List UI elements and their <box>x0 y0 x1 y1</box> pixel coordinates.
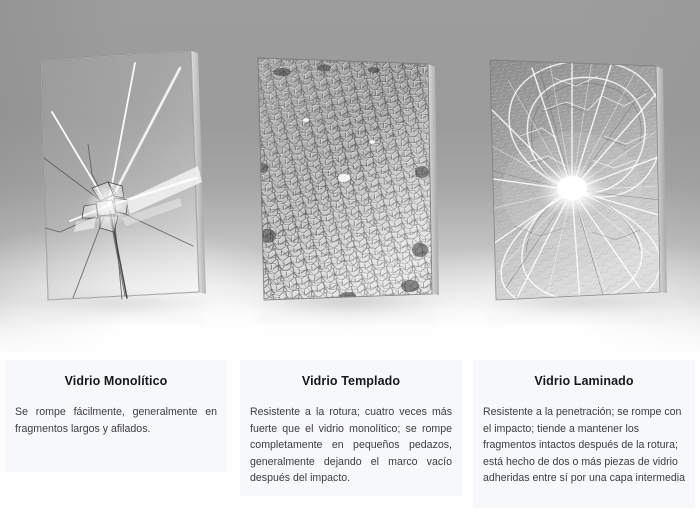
broken-laminated-glass-pane <box>484 50 670 305</box>
caption-card-templado: Vidrio Templado Resistente a la rotura; … <box>240 360 462 496</box>
caption-card-laminado: Vidrio Laminado Resistente a la penetrac… <box>473 360 695 508</box>
comparison-figure: Vidrio Monolítico Se rompe fácilmente, g… <box>0 0 700 520</box>
caption-title-monolitico: Vidrio Monolítico <box>5 374 227 388</box>
caption-body-monolitico: Se rompe fácilmente, generalmente en fra… <box>15 404 217 437</box>
glass-panel-templado <box>252 50 442 305</box>
caption-body-templado: Resistente a la rotura; cuatro veces más… <box>250 404 452 487</box>
broken-tempered-glass-pane <box>252 50 442 305</box>
glass-panel-laminado <box>484 50 670 305</box>
caption-body-laminado: Resistente a la penetración; se rompe co… <box>483 404 685 487</box>
caption-title-templado: Vidrio Templado <box>240 374 462 388</box>
caption-card-monolitico: Vidrio Monolítico Se rompe fácilmente, g… <box>5 360 227 472</box>
caption-title-laminado: Vidrio Laminado <box>473 374 695 388</box>
glass-panel-monolitico <box>30 46 208 304</box>
broken-monolithic-glass-pane <box>30 46 208 304</box>
